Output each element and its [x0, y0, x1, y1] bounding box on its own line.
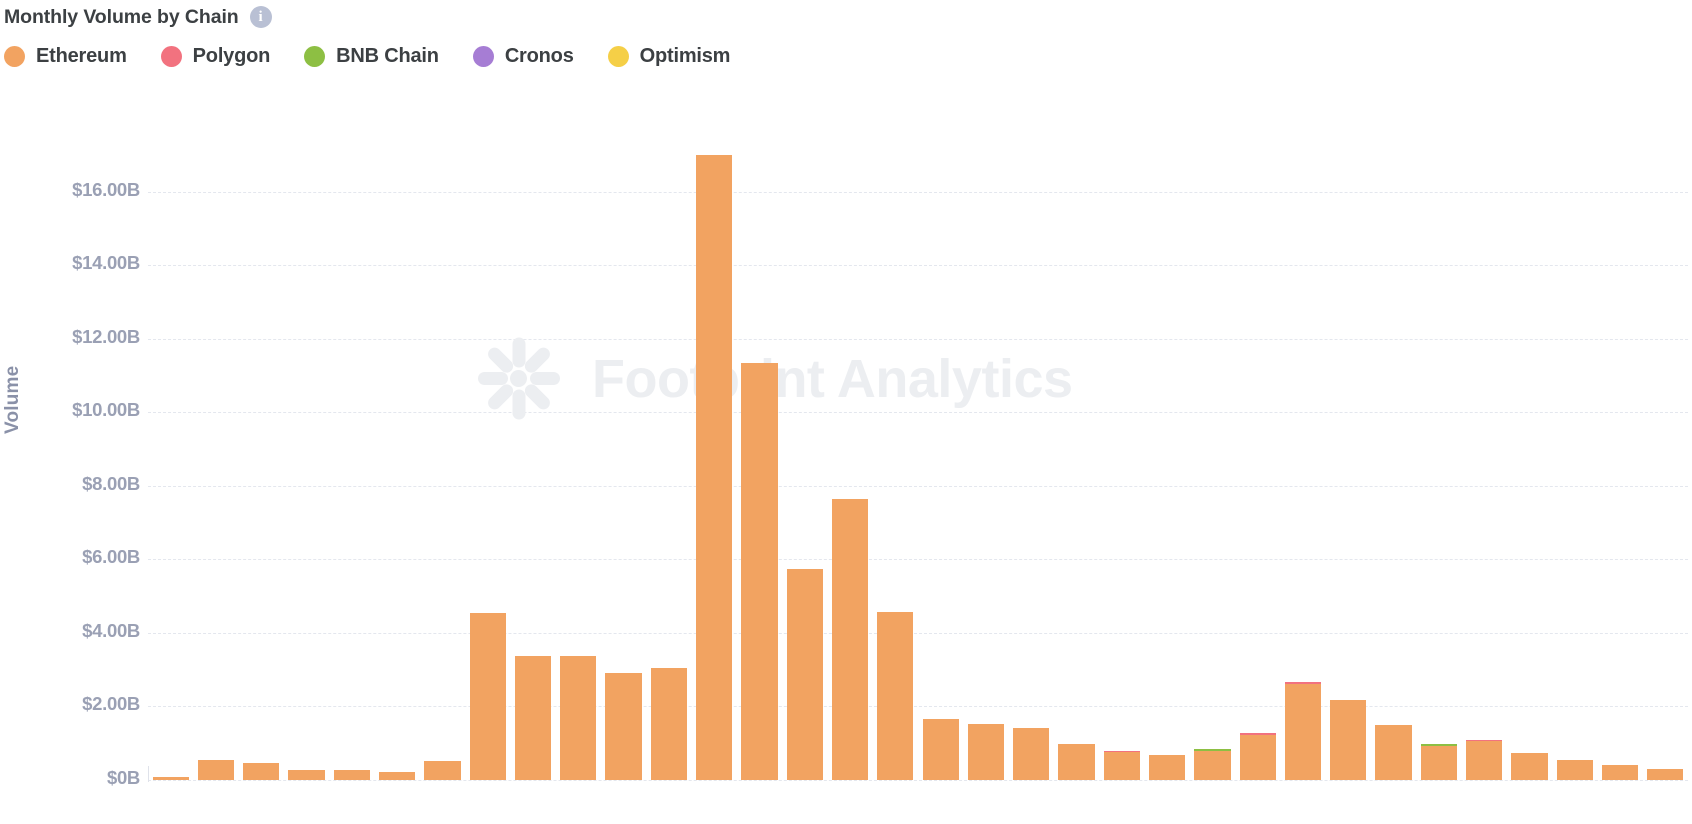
- legend-dot-icon: [161, 46, 182, 67]
- bar-column[interactable]: [153, 777, 189, 780]
- bar-segment-ethereum: [1285, 684, 1321, 780]
- legend-label: Ethereum: [36, 45, 127, 68]
- bar-column[interactable]: [1149, 755, 1185, 780]
- legend-item-ethereum[interactable]: Ethereum: [4, 45, 127, 68]
- bar-segment-ethereum: [923, 719, 959, 780]
- bar-column[interactable]: [787, 569, 823, 780]
- bar-segment-ethereum: [741, 363, 777, 780]
- legend-label: Cronos: [505, 45, 574, 68]
- bar-column[interactable]: [605, 673, 641, 780]
- y-axis-ticks: $0B$2.00B$4.00B$6.00B$8.00B$10.00B$12.00…: [0, 96, 140, 824]
- bar-column[interactable]: [379, 772, 415, 780]
- bar-segment-ethereum: [787, 569, 823, 780]
- legend-dot-icon: [608, 46, 629, 67]
- y-axis-tick-label: $10.00B: [15, 399, 140, 421]
- y-axis-tick-label: $4.00B: [15, 620, 140, 642]
- bar-column[interactable]: [651, 668, 687, 780]
- bar-segment-ethereum: [153, 777, 189, 780]
- bar-column[interactable]: [1466, 740, 1502, 780]
- bar-column[interactable]: [832, 499, 868, 780]
- legend-dot-icon: [473, 46, 494, 67]
- legend-item-bnb-chain[interactable]: BNB Chain: [304, 45, 439, 68]
- bar-segment-ethereum: [334, 770, 370, 780]
- y-axis-tick-label: $12.00B: [15, 326, 140, 348]
- bar-column[interactable]: [1602, 765, 1638, 780]
- bar-segment-ethereum: [1013, 728, 1049, 780]
- bar-column[interactable]: [1421, 744, 1457, 780]
- y-axis-tick-label: $8.00B: [15, 473, 140, 495]
- bar-column[interactable]: [198, 760, 234, 780]
- bar-column[interactable]: [1375, 725, 1411, 780]
- bar-segment-ethereum: [1466, 741, 1502, 780]
- bar-segment-ethereum: [1194, 751, 1230, 780]
- y-axis-tick-label: $0B: [15, 767, 140, 789]
- bar-segment-ethereum: [1421, 746, 1457, 780]
- bar-column[interactable]: [1058, 744, 1094, 780]
- bar-segment-ethereum: [1240, 735, 1276, 780]
- page-title: Monthly Volume by Chain: [4, 6, 239, 29]
- bar-column[interactable]: [424, 761, 460, 780]
- title-row: Monthly Volume by Chain i: [0, 0, 1692, 30]
- legend-label: Optimism: [640, 45, 731, 68]
- bar-segment-ethereum: [696, 155, 732, 780]
- bar-column[interactable]: [1194, 749, 1230, 780]
- legend-item-optimism[interactable]: Optimism: [608, 45, 731, 68]
- bar-segment-ethereum: [288, 770, 324, 780]
- bar-segment-ethereum: [1375, 725, 1411, 780]
- chart-legend: EthereumPolygonBNB ChainCronosOptimism: [0, 30, 1692, 70]
- bar-column[interactable]: [1557, 760, 1593, 780]
- bar-segment-ethereum: [470, 613, 506, 780]
- legend-dot-icon: [4, 46, 25, 67]
- bar-column[interactable]: [288, 770, 324, 780]
- legend-item-polygon[interactable]: Polygon: [161, 45, 271, 68]
- bar-column[interactable]: [1240, 733, 1276, 780]
- bar-segment-ethereum: [877, 612, 913, 780]
- bar-segment-ethereum: [1149, 755, 1185, 780]
- bar-series-container: [148, 96, 1688, 824]
- bar-segment-ethereum: [968, 724, 1004, 780]
- plot-area: Volume $0B$2.00B$4.00B$6.00B$8.00B$10.00…: [0, 96, 1692, 824]
- bar-column[interactable]: [470, 613, 506, 780]
- legend-label: BNB Chain: [336, 45, 439, 68]
- bar-segment-ethereum: [379, 772, 415, 780]
- legend-label: Polygon: [193, 45, 271, 68]
- bar-segment-ethereum: [1058, 744, 1094, 780]
- bar-column[interactable]: [968, 724, 1004, 780]
- bar-column[interactable]: [560, 656, 596, 780]
- bar-column[interactable]: [696, 155, 732, 780]
- bar-column[interactable]: [1330, 700, 1366, 780]
- bar-segment-ethereum: [1647, 769, 1683, 780]
- bar-segment-ethereum: [1511, 753, 1547, 780]
- bar-segment-ethereum: [424, 761, 460, 780]
- y-axis-tick-label: $14.00B: [15, 252, 140, 274]
- bar-column[interactable]: [877, 612, 913, 780]
- bar-column[interactable]: [923, 719, 959, 780]
- bar-segment-ethereum: [605, 673, 641, 780]
- bar-segment-ethereum: [198, 760, 234, 780]
- bar-segment-ethereum: [832, 499, 868, 780]
- info-icon-glyph: i: [259, 10, 263, 25]
- chart-header: Monthly Volume by Chain i EthereumPolygo…: [0, 0, 1692, 70]
- bar-column[interactable]: [1285, 682, 1321, 780]
- bar-segment-ethereum: [1602, 765, 1638, 780]
- bar-segment-ethereum: [560, 656, 596, 780]
- bar-segment-ethereum: [1557, 760, 1593, 780]
- bar-column[interactable]: [1647, 769, 1683, 780]
- bar-segment-ethereum: [651, 668, 687, 780]
- bar-column[interactable]: [243, 763, 279, 780]
- bar-segment-ethereum: [1104, 752, 1140, 780]
- info-icon[interactable]: i: [250, 6, 272, 28]
- bar-column[interactable]: [1013, 728, 1049, 780]
- bar-column[interactable]: [515, 656, 551, 780]
- y-axis-tick-label: $2.00B: [15, 693, 140, 715]
- bar-segment-ethereum: [1330, 700, 1366, 780]
- legend-item-cronos[interactable]: Cronos: [473, 45, 574, 68]
- bar-column[interactable]: [1104, 751, 1140, 780]
- bar-segment-ethereum: [243, 763, 279, 780]
- bar-column[interactable]: [741, 363, 777, 780]
- y-axis-tick-label: $16.00B: [15, 179, 140, 201]
- legend-dot-icon: [304, 46, 325, 67]
- bar-column[interactable]: [1511, 753, 1547, 780]
- bar-segment-ethereum: [515, 656, 551, 780]
- bar-column[interactable]: [334, 770, 370, 780]
- chart-panel: Monthly Volume by Chain i EthereumPolygo…: [0, 0, 1692, 824]
- y-axis-tick-label: $6.00B: [15, 546, 140, 568]
